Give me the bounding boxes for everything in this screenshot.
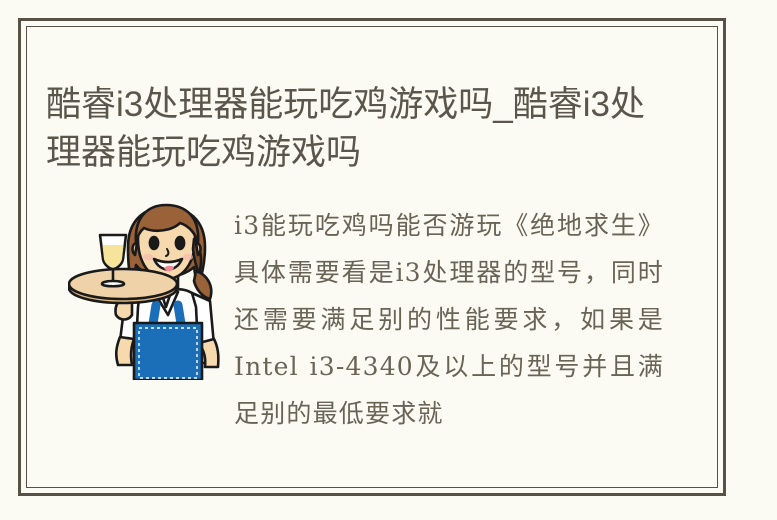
article-body-paragraph: i3能玩吃鸡吗能否游玩《绝地求生》具体需要看是i3处理器的型号，同时还需要满足别… bbox=[234, 202, 664, 437]
page-title: 酷睿i3处理器能玩吃鸡游戏吗_酷睿i3处理器能玩吃鸡游戏吗 bbox=[46, 81, 666, 177]
article-body: i3能玩吃鸡吗能否游玩《绝地求生》具体需要看是i3处理器的型号，同时还需要满足别… bbox=[234, 202, 664, 437]
waitress-with-tray-illustration bbox=[68, 195, 228, 380]
article-page: 酷睿i3处理器能玩吃鸡游戏吗_酷睿i3处理器能玩吃鸡游戏吗 bbox=[0, 0, 777, 520]
article-content: i3能玩吃鸡吗能否游玩《绝地求生》具体需要看是i3处理器的型号，同时还需要满足别… bbox=[46, 190, 686, 460]
